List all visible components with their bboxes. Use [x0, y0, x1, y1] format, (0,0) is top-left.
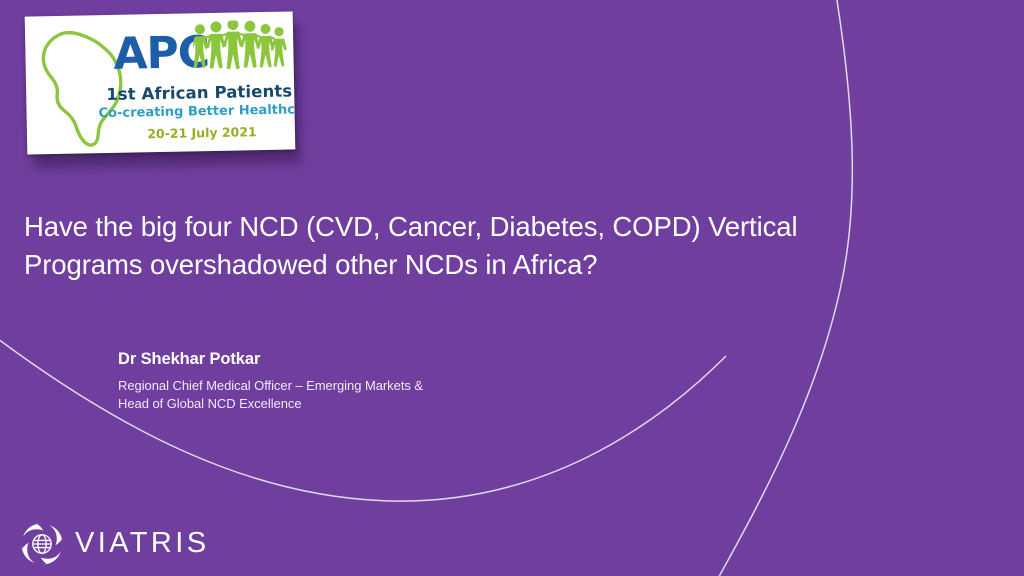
- logo-dates: 20-21 July 2021: [137, 124, 267, 141]
- vertical-arc-decoration: [716, 0, 852, 576]
- viatris-logo: VIATRIS: [20, 521, 209, 567]
- presenter-role-line-2: Head of Global NCD Excellence: [118, 395, 638, 413]
- slide-title: Have the big four NCD (CVD, Cancer, Diab…: [24, 208, 814, 284]
- logo-tagline: Co-creating Better Healthcare Systems: [98, 102, 292, 121]
- presenter-role-line-1: Regional Chief Medical Officer – Emergin…: [118, 377, 638, 395]
- viatris-wordmark: VIATRIS: [75, 529, 209, 560]
- presenter-block: Dr Shekhar Potkar Regional Chief Medical…: [118, 348, 638, 412]
- presenter-name: Dr Shekhar Potkar: [118, 348, 638, 370]
- logo-card: APC: [25, 11, 296, 154]
- logo-congress-name: 1st African Patients Congress: [106, 81, 292, 104]
- apc-event-logo: APC: [26, 14, 298, 159]
- viatris-globe-swirl-icon: [20, 522, 64, 566]
- people-chain-icon: [193, 20, 290, 80]
- title-slide: APC: [0, 0, 1024, 576]
